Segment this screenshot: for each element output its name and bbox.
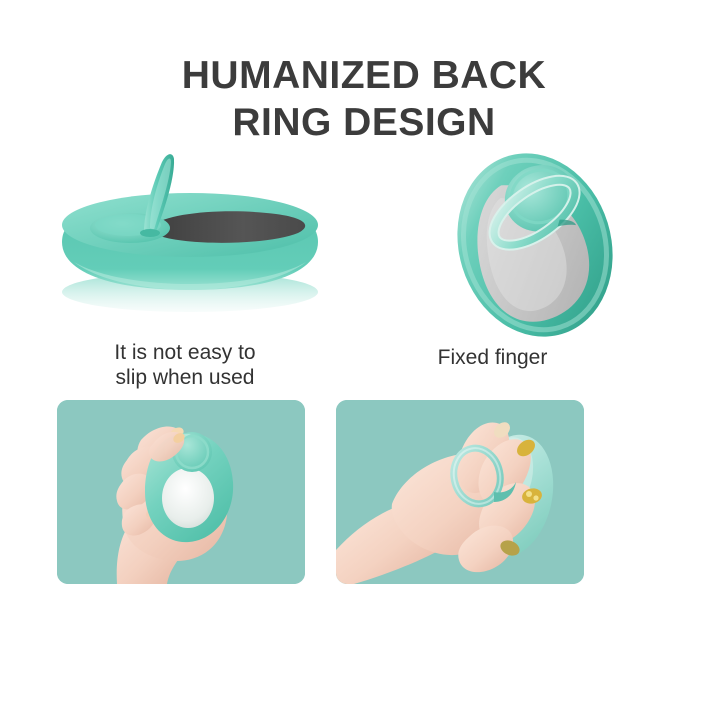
nail-gem-1 <box>526 491 532 497</box>
product-illustration-row <box>0 150 728 340</box>
device-front-panel <box>162 468 214 528</box>
feature-caption-anti-slip-line-1: It is not easy to <box>114 341 255 364</box>
feature-caption-anti-slip: It is not easy to slip when used <box>55 340 315 390</box>
photo-hand-holding-device <box>57 400 305 584</box>
feature-caption-fixed-finger: Fixed finger <box>360 345 625 370</box>
feature-caption-anti-slip-line-2: slip when used <box>116 366 255 389</box>
page-title: HUMANIZED BACK RING DESIGN <box>0 52 728 146</box>
device-side-view-illustration <box>40 150 370 340</box>
device-back-view-illustration <box>370 150 700 340</box>
feature-caption-fixed-finger-line-1: Fixed finger <box>438 346 548 369</box>
page-title-line-1: HUMANIZED BACK <box>0 52 728 99</box>
finger-ring-foot <box>140 229 160 237</box>
product-infographic: HUMANIZED BACK RING DESIGN <box>0 0 728 709</box>
page-title-line-2: RING DESIGN <box>0 99 728 146</box>
photo-finger-through-ring <box>336 400 584 584</box>
nail-gem-2 <box>533 495 538 500</box>
